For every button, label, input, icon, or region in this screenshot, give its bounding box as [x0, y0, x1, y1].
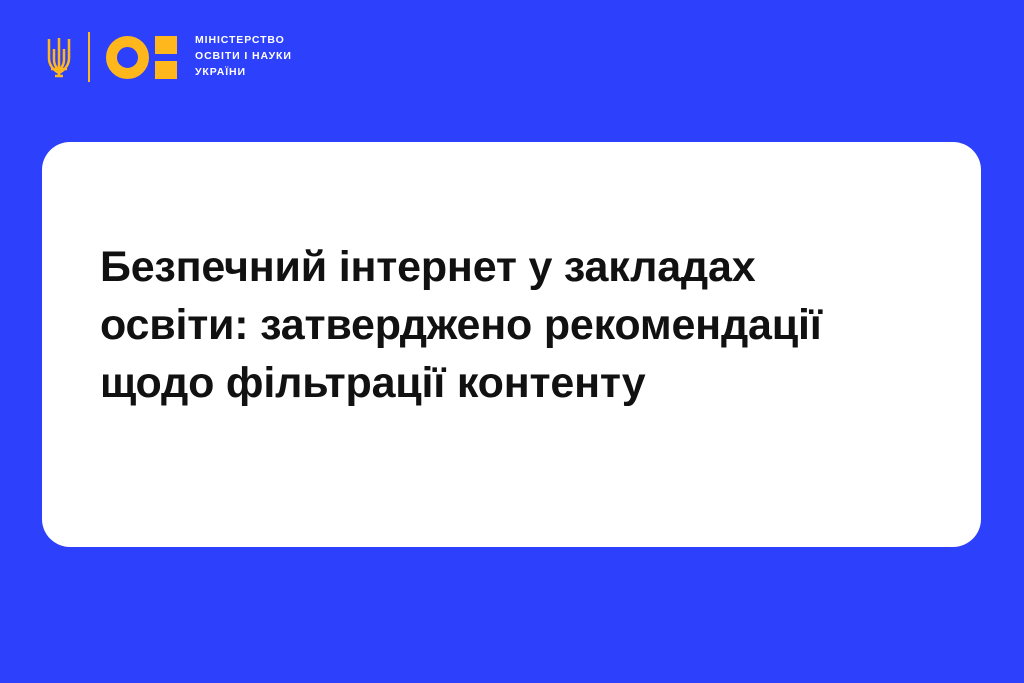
logo-colon-shape	[155, 36, 177, 79]
page-title: Безпечний інтернет у закладах освіти: за…	[100, 238, 930, 412]
headline-line-1: Безпечний інтернет у закладах	[100, 238, 930, 296]
logo-colon-square-bottom	[155, 61, 177, 79]
headline-line-2: освіти: затверджено рекомендації	[100, 296, 930, 354]
ministry-line-1: МІНІСТЕРСТВО	[195, 33, 292, 49]
page-root: { "theme": { "background_color": "#2d40f…	[0, 0, 1024, 683]
logo-ring-shape	[106, 36, 149, 79]
header-logo-lockup[interactable]: МІНІСТЕРСТВО ОСВІТИ І НАУКИ УКРАЇНИ	[44, 28, 292, 86]
ministry-line-3: УКРАЇНИ	[195, 65, 292, 81]
ukraine-trident-icon	[44, 32, 74, 82]
headline-line-3: щодо фільтрації контенту	[100, 354, 930, 412]
vertical-divider-icon	[88, 32, 90, 82]
content-card: Безпечний інтернет у закладах освіти: за…	[42, 142, 981, 547]
logo-colon-square-top	[155, 36, 177, 54]
ministry-line-2: ОСВІТИ І НАУКИ	[195, 49, 292, 65]
mon-o-colon-logo-icon	[106, 36, 177, 79]
ministry-name: МІНІСТЕРСТВО ОСВІТИ І НАУКИ УКРАЇНИ	[195, 33, 292, 81]
